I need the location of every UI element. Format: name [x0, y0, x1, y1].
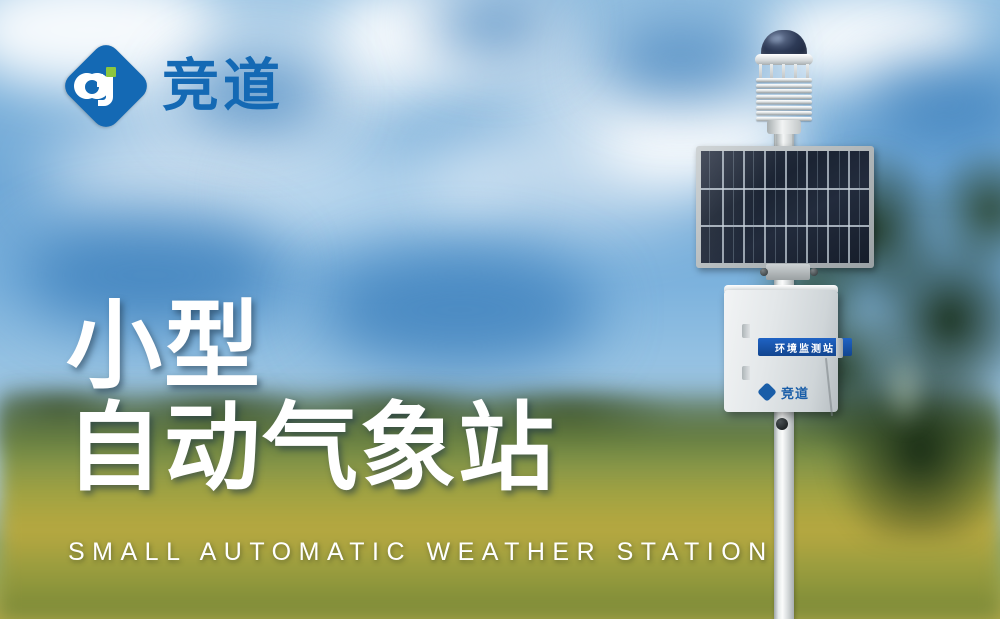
enclosure-banner-text: 环境监测站	[775, 340, 835, 355]
enclosure-hinge-upper	[742, 324, 750, 338]
mast-bolt	[776, 418, 788, 430]
logo-glyph-icon	[64, 44, 148, 128]
solar-panel-cells	[701, 151, 869, 263]
title-line-2: 自动气象站	[66, 398, 556, 500]
brand-name: 竞道	[162, 58, 284, 115]
jingdao-diamond-logo-icon	[64, 44, 148, 128]
mount-bolt-left	[760, 268, 768, 276]
radiation-shield-fins	[756, 78, 812, 122]
enclosure-logo-text: 竞道	[781, 383, 809, 402]
sensor-neck	[767, 120, 801, 134]
enclosure-logo-icon	[758, 383, 776, 401]
weather-station-device: 环境监测站 竞道	[700, 28, 890, 619]
title-line-1: 小型	[66, 296, 556, 398]
mount-bolt-right	[810, 268, 818, 276]
weather-station-banner: 竞道 小型 自动气象站 SMALL AUTOMATIC WEATHER STAT…	[0, 0, 1000, 619]
ultrasonic-weather-sensor	[747, 28, 821, 130]
page-subtitle: SMALL AUTOMATIC WEATHER STATION	[68, 538, 774, 567]
page-title: 小型 自动气象站	[66, 296, 556, 500]
solar-panel-mount	[766, 264, 810, 280]
brand-logo[interactable]: 竞道	[64, 44, 284, 128]
solar-panel-glare	[701, 151, 869, 263]
solar-panel	[696, 146, 874, 268]
enclosure-hinge-lower	[742, 366, 750, 380]
solar-panel-frame	[696, 146, 874, 268]
environmental-monitoring-enclosure: 环境监测站 竞道	[724, 290, 838, 412]
enclosure-side-latch	[836, 338, 843, 358]
